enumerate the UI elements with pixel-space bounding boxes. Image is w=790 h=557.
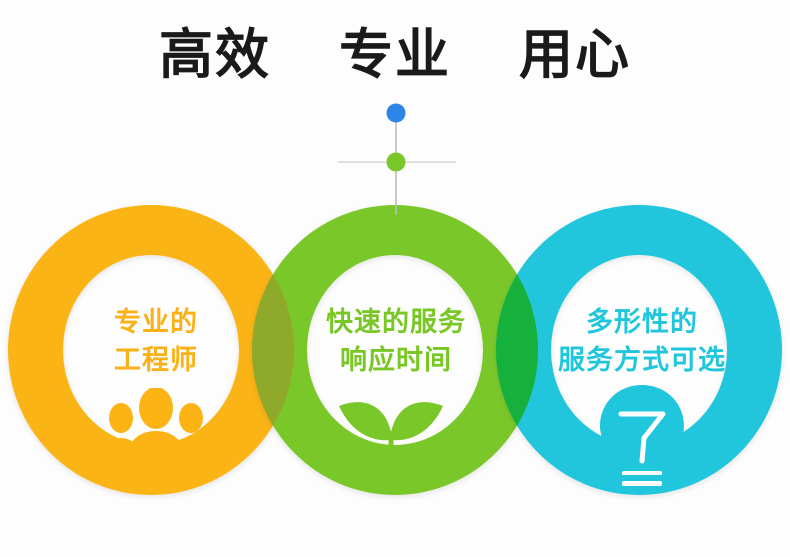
overlap-green-cyan xyxy=(0,0,790,557)
card-service-modes-text: 多形性的 服务方式可选 xyxy=(522,303,762,379)
card-engineers-line-2: 工程师 xyxy=(42,341,270,379)
card-engineers-line-1: 专业的 xyxy=(42,303,270,341)
card-response-time-line-2: 响应时间 xyxy=(282,341,510,379)
card-response-time-text: 快速的服务 响应时间 xyxy=(282,303,510,379)
card-response-time-line-1: 快速的服务 xyxy=(282,303,510,341)
card-service-modes-line-1: 多形性的 xyxy=(522,303,762,341)
card-engineers-text: 专业的 工程师 xyxy=(42,303,270,379)
poster-canvas: 高效 专业 用心 xyxy=(0,0,790,557)
venn-rings-graphic xyxy=(0,0,790,557)
card-service-modes-line-2: 服务方式可选 xyxy=(522,341,762,379)
